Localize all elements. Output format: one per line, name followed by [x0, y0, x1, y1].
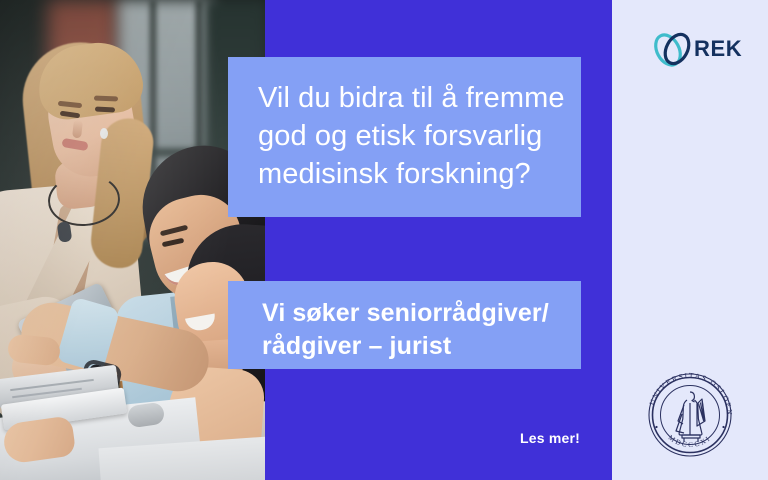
read-more-link[interactable]: Les mer!	[460, 430, 580, 446]
job-title-box: Vi søker seniorrådgiver/ rådgiver – juri…	[228, 281, 581, 369]
headline-line-1: Vil du bidra til å fremme	[258, 79, 555, 117]
team-photo	[0, 0, 265, 480]
svg-text:MDCCCXI: MDCCCXI	[667, 434, 713, 449]
headline-line-2: god og etisk forsvarlig	[258, 117, 555, 155]
rek-wordmark: REK	[694, 36, 742, 62]
rek-logo[interactable]: REK	[650, 28, 740, 72]
photo-lighting-overlay	[0, 0, 265, 480]
rek-interlocking-ovals-icon	[650, 28, 694, 72]
recruitment-banner: Vil du bidra til å fremme god og etisk f…	[0, 0, 768, 480]
uio-seal-icon: UNIVERSITAS OSLOENSIS MDCCCXI	[640, 365, 740, 465]
svg-text:UNIVERSITAS OSLOENSIS: UNIVERSITAS OSLOENSIS	[640, 365, 734, 416]
job-title-line-2: rådgiver – jurist	[262, 330, 563, 363]
job-title-line-1: Vi søker seniorrådgiver/	[262, 297, 563, 330]
headline-box: Vil du bidra til å fremme god og etisk f…	[228, 57, 581, 217]
headline-line-3: medisinsk forskning?	[258, 155, 555, 193]
